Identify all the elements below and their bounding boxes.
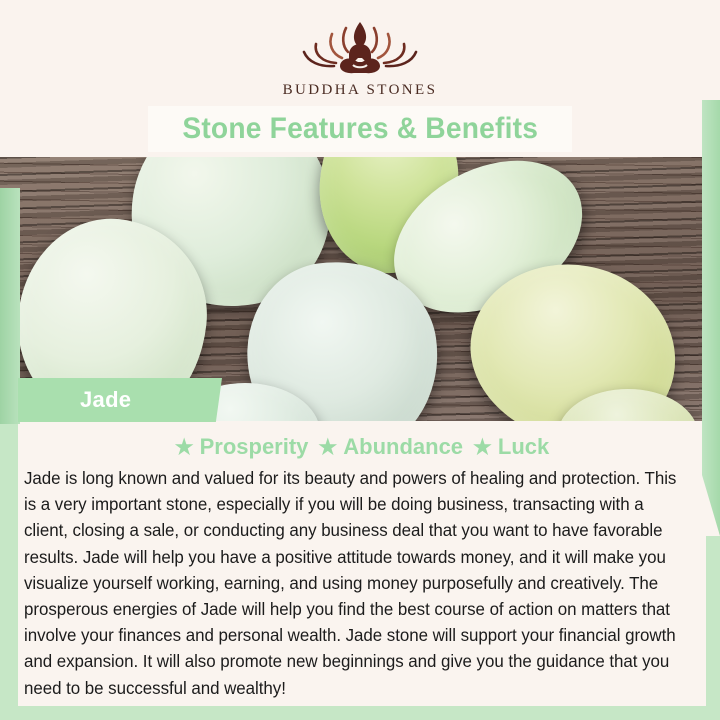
star-icon: ★ <box>318 437 337 458</box>
stone-name-label: Jade <box>80 387 131 413</box>
benefits-row: ★ Prosperity ★ Abundance ★ Luck <box>24 421 700 460</box>
lotus-meditation-icon <box>296 16 424 78</box>
stone-name-banner: Jade <box>18 378 222 422</box>
page-title: Stone Features & Benefits <box>182 112 538 146</box>
page-title-ribbon: Stone Features & Benefits <box>148 106 572 152</box>
stone-features-card: BUDDHA STONES Stone Features & Benefits … <box>0 0 720 720</box>
accent-bar-left-photo <box>0 188 20 424</box>
benefit-item-abundance: ★ Abundance <box>318 434 463 460</box>
description-panel: ★ Prosperity ★ Abundance ★ Luck Jade is … <box>18 421 706 706</box>
brand-logo: BUDDHA STONES <box>283 16 438 99</box>
accent-bar-right-photo <box>702 100 720 536</box>
benefit-label: Prosperity <box>200 434 309 460</box>
benefit-item-prosperity: ★ Prosperity <box>175 434 309 460</box>
benefit-label: Abundance <box>343 434 463 460</box>
description-text: Jade is long known and valued for its be… <box>24 465 690 701</box>
star-icon: ★ <box>175 437 194 458</box>
accent-bar-left-body <box>0 424 18 720</box>
star-icon: ★ <box>473 437 492 458</box>
benefit-item-luck: ★ Luck <box>473 434 549 460</box>
brand-name: BUDDHA STONES <box>283 82 438 99</box>
benefit-label: Luck <box>498 434 549 460</box>
accent-bar-bottom <box>0 706 720 720</box>
accent-bar-right-body <box>704 536 720 720</box>
